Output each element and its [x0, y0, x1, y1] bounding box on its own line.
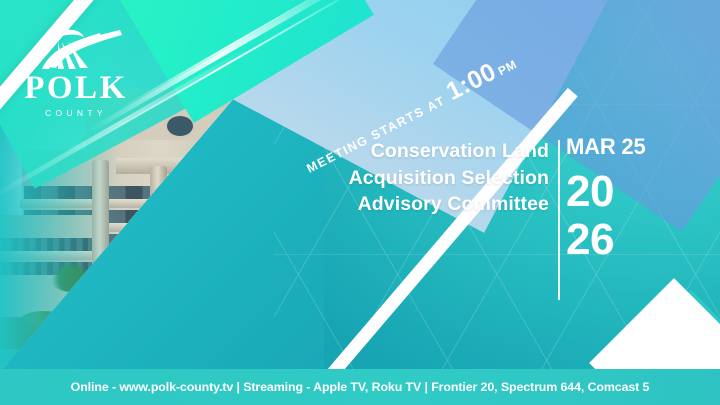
title-line-1: Conservation Land	[219, 138, 549, 165]
polk-county-logo: POLK COUNTY	[22, 24, 130, 118]
logo-polk-text: POLK	[22, 72, 130, 105]
meeting-announcement-graphic: Polk County Administration Building	[0, 0, 720, 405]
meeting-title: Conservation Land Acquisition Selection …	[219, 138, 549, 218]
sun-road-rays-icon	[28, 24, 124, 70]
title-date-divider	[558, 140, 560, 300]
title-line-3: Advisory Committee	[219, 191, 549, 218]
date-year-top: 20	[566, 168, 646, 216]
meeting-date: MAR 25 20 26	[566, 136, 646, 263]
date-year-bottom: 26	[566, 216, 646, 264]
date-month-day: MAR 25	[566, 136, 646, 158]
broadcast-info-bar: Online - www.polk-county.tv | Streaming …	[0, 369, 720, 405]
logo-county-text: COUNTY	[22, 108, 130, 118]
broadcast-info-text: Online - www.polk-county.tv | Streaming …	[71, 380, 650, 394]
title-line-2: Acquisition Selection	[219, 165, 549, 192]
